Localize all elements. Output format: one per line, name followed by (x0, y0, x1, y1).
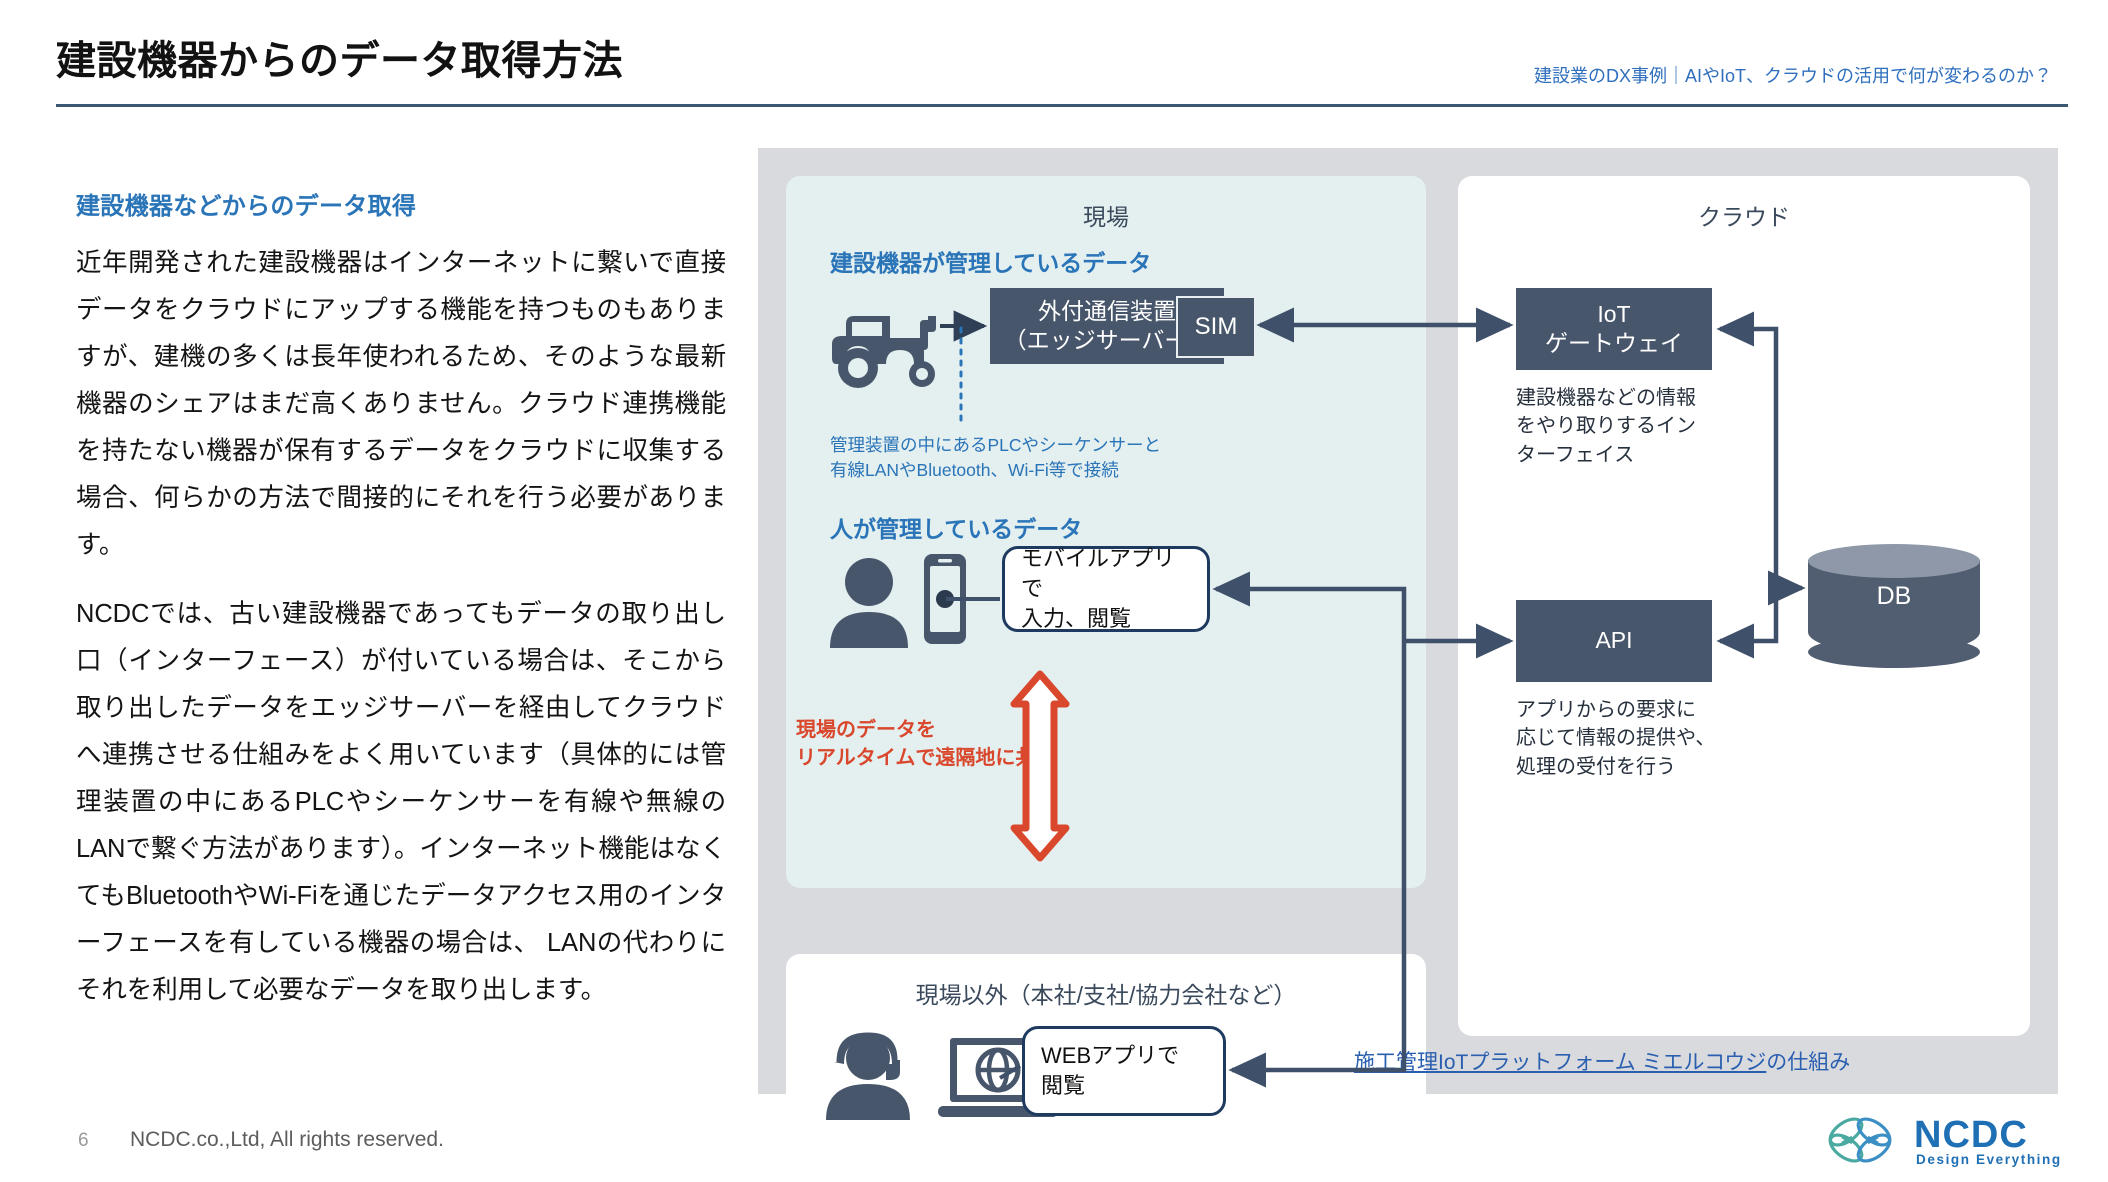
cloud-platform-link-suffix: の仕組み (1766, 1051, 1850, 1074)
realtime-label-line1: 現場のデータを (796, 716, 1055, 744)
heading-human-data: 人が管理しているデータ (830, 510, 1082, 544)
ncdc-tagline: Design Everything (1916, 1152, 2062, 1167)
cloud-platform-link-text[interactable]: 施工管理IoTプラットフォーム ミエルコウジ (1354, 1051, 1766, 1074)
gateway-note-line3: ターフェイス (1516, 441, 1696, 469)
api-note-line3: 処理の受付を行う (1516, 753, 1715, 781)
section-lead-heading: 建設機器などからのデータ取得 (76, 186, 716, 221)
api-note-line1: アプリからの要求に (1516, 696, 1715, 724)
panel-site-title: 現場 (786, 198, 1426, 232)
db-top-ellipse (1808, 544, 1980, 578)
copyright-text: NCDC.co.,Ltd, All rights reserved. (130, 1128, 444, 1152)
ncdc-logo: NCDC Design Everything (1822, 1112, 2072, 1168)
web-app-callout: WEBアプリで 閲覧 (1022, 1026, 1226, 1116)
ncdc-wordmark: NCDC (1914, 1114, 2028, 1157)
database-cylinder: DB (1808, 544, 1980, 670)
heading-machine-data: 建設機器が管理しているデータ (830, 244, 1151, 278)
page-number: 6 (78, 1130, 89, 1152)
cloud-platform-link[interactable]: 施工管理IoTプラットフォーム ミエルコウジの仕組み (1354, 1046, 1850, 1076)
tractor-icon (828, 294, 956, 398)
body-paragraph-1: 近年開発された建設機器はインターネットに繋いで直接データをクラウドにアップする機… (76, 240, 726, 569)
ncdc-clover-icon (1822, 1112, 1912, 1168)
iot-gateway-note: 建設機器などの情報 をやり取りするイン ターフェイス (1516, 384, 1696, 469)
iot-gateway-box: IoT ゲートウェイ (1516, 288, 1712, 370)
iot-gateway-line1: IoT (1545, 300, 1683, 329)
machine-connection-note: 管理装置の中にあるPLCやシーケンサーと 有線LANやBluetooth、Wi-… (830, 433, 1161, 484)
machine-note-line2: 有線LANやBluetooth、Wi-Fi等で接続 (830, 458, 1161, 483)
mobile-callout-line1: モバイルアプリで (1021, 544, 1191, 603)
api-note-line2: 応じて情報の提供や、 (1516, 724, 1715, 752)
header-divider (56, 104, 2068, 107)
web-callout-line1: WEBアプリで (1041, 1041, 1179, 1071)
db-label: DB (1808, 582, 1980, 611)
realtime-label-line2: リアルタイムで遠隔地に共有 (796, 744, 1055, 772)
mobile-app-callout: モバイルアプリで 入力、閲覧 (1002, 546, 1210, 632)
api-box: API (1516, 600, 1712, 682)
person-icon (828, 556, 910, 648)
smartphone-icon (922, 552, 968, 646)
mobile-callout-line2: 入力、閲覧 (1021, 604, 1191, 634)
db-bottom-ellipse (1808, 636, 1980, 668)
header-subtitle: 建設業のDX事例｜AIやIoT、クラウドの活用で何が変わるのか？ (1534, 62, 2052, 88)
panel-cloud-title: クラウド (1458, 198, 2030, 232)
page-title: 建設機器からのデータ取得方法 (56, 28, 623, 86)
panel-offsite-title: 現場以外（本社/支社/協力会社など） (786, 976, 1426, 1010)
body-text-column: 近年開発された建設機器はインターネットに繋いで直接データをクラウドにアップする機… (76, 240, 726, 1036)
machine-note-line1: 管理装置の中にあるPLCやシーケンサーと (830, 433, 1161, 458)
headset-operator-icon (820, 1020, 916, 1120)
slide-root: 建設機器からのデータ取得方法 建設業のDX事例｜AIやIoT、クラウドの活用で何… (0, 0, 2108, 1182)
gateway-note-line2: をやり取りするイン (1516, 412, 1696, 440)
architecture-diagram: 現場 建設機器が管理しているデータ 外付通信装置 （エッジサーバー） (758, 148, 2058, 1094)
body-paragraph-2: NCDCでは、古い建設機器であってもデータの取り出し口（インターフェース）が付い… (76, 591, 726, 1014)
realtime-share-label: 現場のデータを リアルタイムで遠隔地に共有 (796, 716, 1055, 773)
gateway-note-line1: 建設機器などの情報 (1516, 384, 1696, 412)
web-callout-line2: 閲覧 (1041, 1071, 1179, 1101)
iot-gateway-line2: ゲートウェイ (1545, 329, 1683, 358)
api-note: アプリからの要求に 応じて情報の提供や、 処理の受付を行う (1516, 696, 1715, 781)
sim-box: SIM (1176, 296, 1256, 358)
